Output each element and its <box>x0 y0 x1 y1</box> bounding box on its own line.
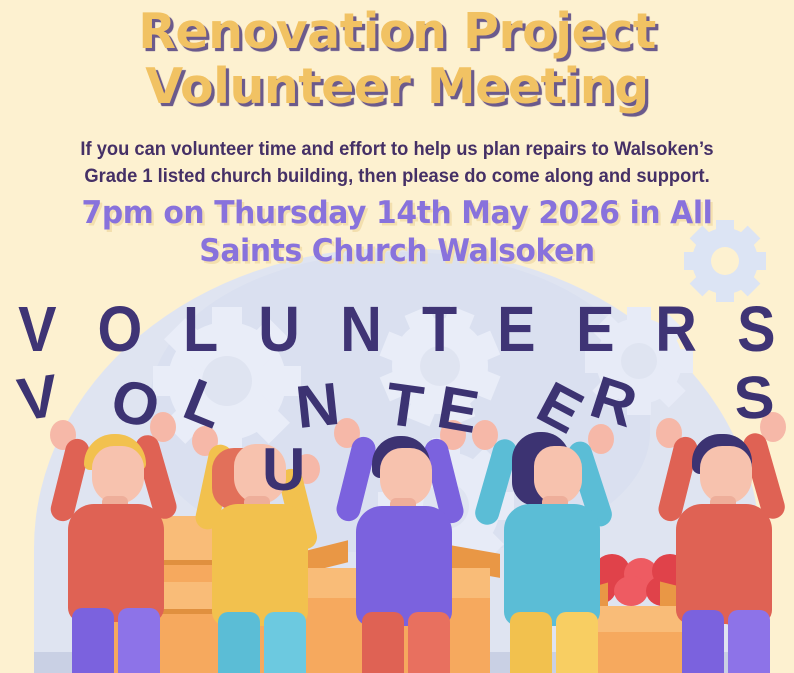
banner-letter-u: U <box>258 296 300 362</box>
banner-letter-e-2: E <box>576 296 614 362</box>
held-letter-s: S <box>732 367 776 430</box>
poster-description: If you can volunteer time and effort to … <box>24 136 770 190</box>
banner-letter-s: S <box>737 296 775 362</box>
banner-letter-t: T <box>422 296 457 362</box>
banner-letter-n: N <box>340 296 382 362</box>
banner-letter-l: L <box>183 296 218 362</box>
held-letter-v: V <box>14 366 62 431</box>
volunteer-meeting-poster: V O L U N T E E R S V O L U N T E E R S … <box>0 0 794 673</box>
banner-letter-o: O <box>97 296 142 362</box>
banner-letter-r: R <box>655 296 697 362</box>
banner-letter-e-1: E <box>498 296 536 362</box>
banner-letter-v: V <box>18 296 56 362</box>
event-datetime-location: 7pm on Thursday 14th May 2026 in All Sai… <box>16 194 778 270</box>
volunteers-banner-word: V O L U N T E E R S <box>0 296 794 362</box>
page-title: Renovation Project Volunteer Meeting <box>0 4 794 114</box>
held-letter-n: N <box>293 374 342 438</box>
held-letter-u: U <box>262 440 305 500</box>
